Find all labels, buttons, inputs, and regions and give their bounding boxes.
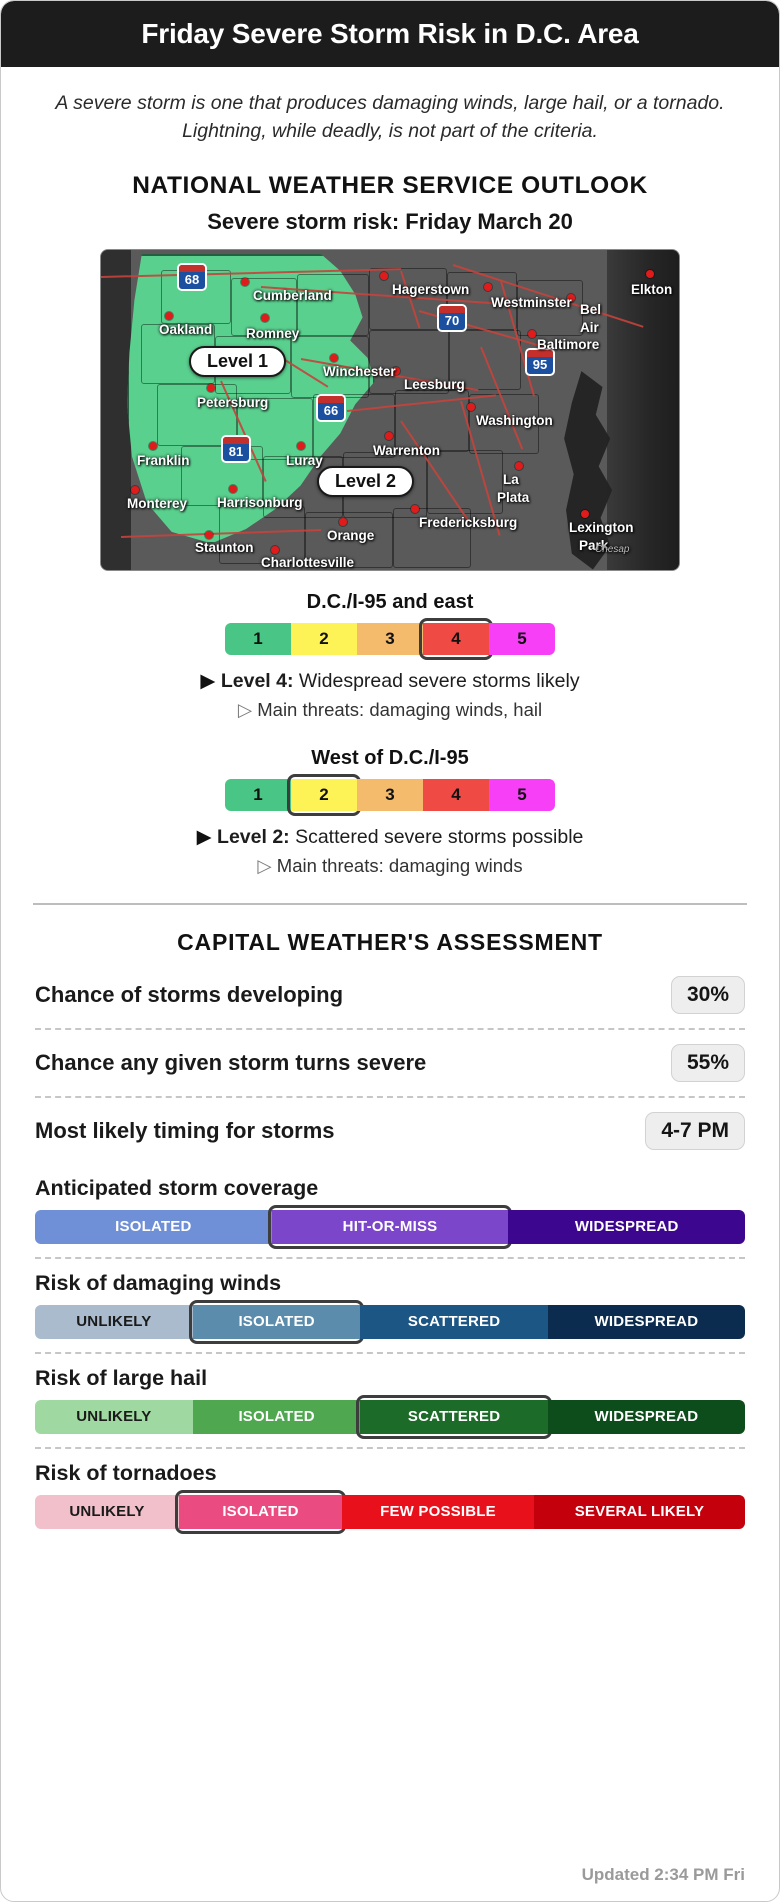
category-segment-widespread[interactable]: WIDESPREAD (548, 1305, 745, 1339)
city-label-cumberland: Cumberland (253, 288, 332, 303)
region-summary-east: ▶ Level 4: Widespread severe storms like… (1, 669, 779, 693)
risk-scale-west[interactable]: 12345 (225, 779, 555, 811)
city-label-harrisonburg: Harrisonburg (217, 495, 303, 510)
city-marker (646, 270, 654, 278)
assessment-row-value: 30% (671, 976, 745, 1014)
assessment-category: Risk of tornadoesUNLIKELYISOLATEDFEW POS… (35, 1449, 745, 1542)
category-segment-scattered[interactable]: SCATTERED (360, 1305, 547, 1339)
city-label-fredericksburg: Fredericksburg (419, 515, 517, 530)
category-segment-isolated[interactable]: ISOLATED (179, 1495, 342, 1529)
outlook-map: 68 70 95 66 81 Cumberland Hagerstown Wes… (100, 249, 680, 571)
assessment-category-label: Anticipated storm coverage (35, 1176, 745, 1201)
nws-subheading: Severe storm risk: Friday March 20 (1, 209, 779, 235)
assessment-category-label: Risk of tornadoes (35, 1461, 745, 1486)
city-label-hagerstown: Hagerstown (392, 282, 469, 297)
assessment-category-bar[interactable]: ISOLATEDHIT-OR-MISSWIDESPREAD (35, 1210, 745, 1244)
section-divider (33, 903, 747, 905)
risk-level-3[interactable]: 3 (357, 623, 423, 655)
nws-heading: NATIONAL WEATHER SERVICE OUTLOOK (1, 172, 779, 200)
region-threats-west: ▷ Main threats: damaging winds (1, 855, 779, 877)
city-label-oakland: Oakland (159, 322, 212, 337)
highway-shield-66: 66 (316, 394, 346, 422)
assessment-category: Anticipated storm coverageISOLATEDHIT-OR… (35, 1164, 745, 1259)
map-level1-pill: Level 1 (189, 346, 286, 377)
category-segment-unlikely[interactable]: UNLIKELY (35, 1400, 193, 1434)
city-label-warrenton: Warrenton (373, 443, 440, 458)
highway-shield-68: 68 (177, 263, 207, 291)
map-west-shade (101, 250, 131, 570)
city-label-washington: Washington (476, 413, 553, 428)
assessment-category-label: Risk of large hail (35, 1366, 745, 1391)
risk-level-1[interactable]: 1 (225, 779, 291, 811)
category-segment-isolated[interactable]: ISOLATED (193, 1305, 361, 1339)
assessment-row-label: Chance any given storm turns severe (35, 1050, 426, 1076)
assessment-category-bar[interactable]: UNLIKELYISOLATEDSCATTEREDWIDESPREAD (35, 1400, 745, 1434)
risk-level-1[interactable]: 1 (225, 623, 291, 655)
risk-scale-east[interactable]: 12345 (225, 623, 555, 655)
water-label-chesapeake: Chesap (595, 544, 629, 555)
assessment-category-label: Risk of damaging winds (35, 1271, 745, 1296)
triangle-filled-icon: ▶ (197, 826, 212, 848)
assessment-row: Most likely timing for storms4-7 PM (35, 1098, 745, 1164)
city-label-elkton: Elkton (631, 282, 672, 297)
triangle-open-icon: ▷ (238, 699, 252, 720)
assessment-heading: CAPITAL WEATHER'S ASSESSMENT (1, 929, 779, 956)
assessment-category: Risk of large hailUNLIKELYISOLATEDSCATTE… (35, 1354, 745, 1449)
assessment-category: Risk of damaging windsUNLIKELYISOLATEDSC… (35, 1259, 745, 1354)
assessment-category-bar[interactable]: UNLIKELYISOLATEDSCATTEREDWIDESPREAD (35, 1305, 745, 1339)
assessment-row-value: 4-7 PM (645, 1112, 745, 1150)
city-label-monterey: Monterey (127, 496, 187, 511)
assessment-row-value: 55% (671, 1044, 745, 1082)
assessment-rows: Chance of storms developing30%Chance any… (1, 962, 779, 1164)
region-level-text-west: Scattered severe storms possible (295, 826, 583, 848)
city-marker (380, 272, 388, 280)
city-label-leesburg: Leesburg (404, 377, 465, 392)
assessment-row-label: Most likely timing for storms (35, 1118, 335, 1144)
city-label-air: Air (580, 320, 599, 335)
highway-shield-81: 81 (221, 435, 251, 463)
region-level-label-west: Level 2: (217, 826, 290, 848)
region-threats-east: ▷ Main threats: damaging winds, hail (1, 699, 779, 721)
region-summary-west: ▶ Level 2: Scattered severe storms possi… (1, 825, 779, 849)
city-marker (297, 442, 305, 450)
city-marker (271, 546, 279, 554)
assessment-row: Chance of storms developing30% (35, 962, 745, 1030)
city-label-franklin: Franklin (137, 453, 190, 468)
updated-timestamp: Updated 2:34 PM Fri (582, 1865, 745, 1885)
city-label-charlottesville: Charlottesville (261, 555, 354, 570)
city-marker (467, 403, 475, 411)
triangle-filled-icon: ▶ (200, 670, 215, 692)
assessment-row-label: Chance of storms developing (35, 982, 343, 1008)
header-bar: Friday Severe Storm Risk in D.C. Area (1, 1, 779, 67)
category-segment-widespread[interactable]: WIDESPREAD (548, 1400, 745, 1434)
category-segment-several-likely[interactable]: SEVERAL LIKELY (534, 1495, 745, 1529)
city-marker (229, 485, 237, 493)
city-marker (528, 330, 536, 338)
city-label-winchester: Winchester (323, 364, 396, 379)
category-segment-unlikely[interactable]: UNLIKELY (35, 1495, 179, 1529)
category-segment-isolated[interactable]: ISOLATED (193, 1400, 361, 1434)
region-level-label-east: Level 4: (221, 670, 294, 692)
city-label-lexington: Lexington (569, 520, 634, 535)
city-marker (207, 384, 215, 392)
risk-level-2[interactable]: 2 (291, 779, 357, 811)
assessment-row: Chance any given storm turns severe55% (35, 1030, 745, 1098)
city-label-staunton: Staunton (195, 540, 254, 555)
city-marker (581, 510, 589, 518)
city-label-bel: Bel (580, 302, 601, 317)
city-marker (205, 531, 213, 539)
intro-text: A severe storm is one that produces dama… (47, 89, 733, 146)
city-marker (411, 505, 419, 513)
highway-shield-70: 70 (437, 304, 467, 332)
region-threats-text-east: Main threats: damaging winds, hail (257, 699, 542, 720)
risk-level-5[interactable]: 5 (489, 779, 555, 811)
city-marker (261, 314, 269, 322)
page-title: Friday Severe Storm Risk in D.C. Area (141, 18, 638, 50)
city-label-la: La (503, 472, 519, 487)
category-segment-scattered[interactable]: SCATTERED (360, 1400, 547, 1434)
risk-level-5[interactable]: 5 (489, 623, 555, 655)
map-level2-pill: Level 2 (317, 466, 414, 497)
region-level-text-east: Widespread severe storms likely (299, 670, 580, 692)
city-label-luray: Luray (286, 453, 323, 468)
category-segment-isolated[interactable]: ISOLATED (35, 1210, 272, 1244)
city-label-orange: Orange (327, 528, 374, 543)
assessment-categories: Anticipated storm coverageISOLATEDHIT-OR… (1, 1164, 779, 1542)
triangle-open-icon: ▷ (257, 855, 271, 876)
risk-level-2[interactable]: 2 (291, 623, 357, 655)
category-segment-few-possible[interactable]: FEW POSSIBLE (342, 1495, 534, 1529)
city-marker (131, 486, 139, 494)
city-marker (339, 518, 347, 526)
city-label-baltimore: Baltimore (537, 337, 599, 352)
city-marker (149, 442, 157, 450)
county-outline (297, 274, 369, 336)
category-segment-unlikely[interactable]: UNLIKELY (35, 1305, 193, 1339)
city-label-plata: Plata (497, 490, 529, 505)
risk-level-4[interactable]: 4 (423, 779, 489, 811)
risk-level-3[interactable]: 3 (357, 779, 423, 811)
city-marker (165, 312, 173, 320)
city-label-romney: Romney (246, 326, 299, 341)
city-marker (515, 462, 523, 470)
category-segment-widespread[interactable]: WIDESPREAD (508, 1210, 745, 1244)
city-label-westminster: Westminster (491, 295, 572, 310)
city-marker (241, 278, 249, 286)
city-marker (330, 354, 338, 362)
category-segment-hit-or-miss[interactable]: HIT-OR-MISS (272, 1210, 509, 1244)
region-threats-text-west: Main threats: damaging winds (277, 855, 523, 876)
risk-level-4[interactable]: 4 (423, 623, 489, 655)
city-marker (385, 432, 393, 440)
city-marker (484, 283, 492, 291)
city-label-petersburg: Petersburg (197, 395, 268, 410)
region-title-east: D.C./I-95 and east (1, 591, 779, 614)
region-title-west: West of D.C./I-95 (1, 747, 779, 770)
assessment-category-bar[interactable]: UNLIKELYISOLATEDFEW POSSIBLESEVERAL LIKE… (35, 1495, 745, 1529)
infographic-card: Friday Severe Storm Risk in D.C. Area A … (0, 0, 780, 1902)
